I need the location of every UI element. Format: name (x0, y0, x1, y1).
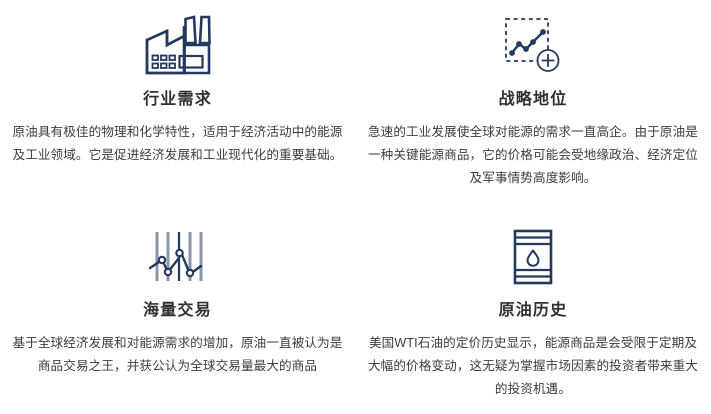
volume-chart-icon (4, 221, 351, 293)
feature-card-crude-oil-history: 原油历史 美国WTI石油的定价历史显示，能源商品是会受限于定期及大幅的价格变动，… (355, 207, 711, 414)
feature-card-massive-trading: 海量交易 基于全球经济发展和对能源需求的增加，原油一直被认为是商品交易之王，并获… (0, 207, 355, 414)
feature-grid: 行业需求 原油具有极佳的物理和化学特性，适用于经济活动中的能源及工业领域。它是促… (0, 0, 711, 414)
card-body: 美国WTI石油的定价历史显示，能源商品是会受限于定期及大幅的价格变动，这无疑为掌… (363, 332, 703, 401)
card-body: 急速的工业发展使全球对能源的需求一直高企。由于原油是一种关键能源商品，它的价格可… (363, 121, 703, 190)
card-title: 海量交易 (143, 301, 212, 320)
feature-card-strategic-position: 战略地位 急速的工业发展使全球对能源的需求一直高企。由于原油是一种关键能源商品，… (355, 0, 711, 207)
feature-card-industry-demand: 行业需求 原油具有极佳的物理和化学特性，适用于经济活动中的能源及工业领域。它是促… (0, 0, 355, 207)
oil-barrel-icon (359, 221, 707, 293)
card-body: 基于全球经济发展和对能源需求的增加，原油一直被认为是商品交易之王，并获公认为全球… (6, 332, 350, 378)
card-title: 原油历史 (499, 301, 568, 320)
card-title: 行业需求 (143, 90, 212, 109)
card-body: 原油具有极佳的物理和化学特性，适用于经济活动中的能源及工业领域。它是促进经济发展… (10, 121, 346, 167)
factory-icon (4, 6, 351, 84)
card-title: 战略地位 (499, 90, 568, 109)
line-chart-add-icon (359, 6, 707, 84)
